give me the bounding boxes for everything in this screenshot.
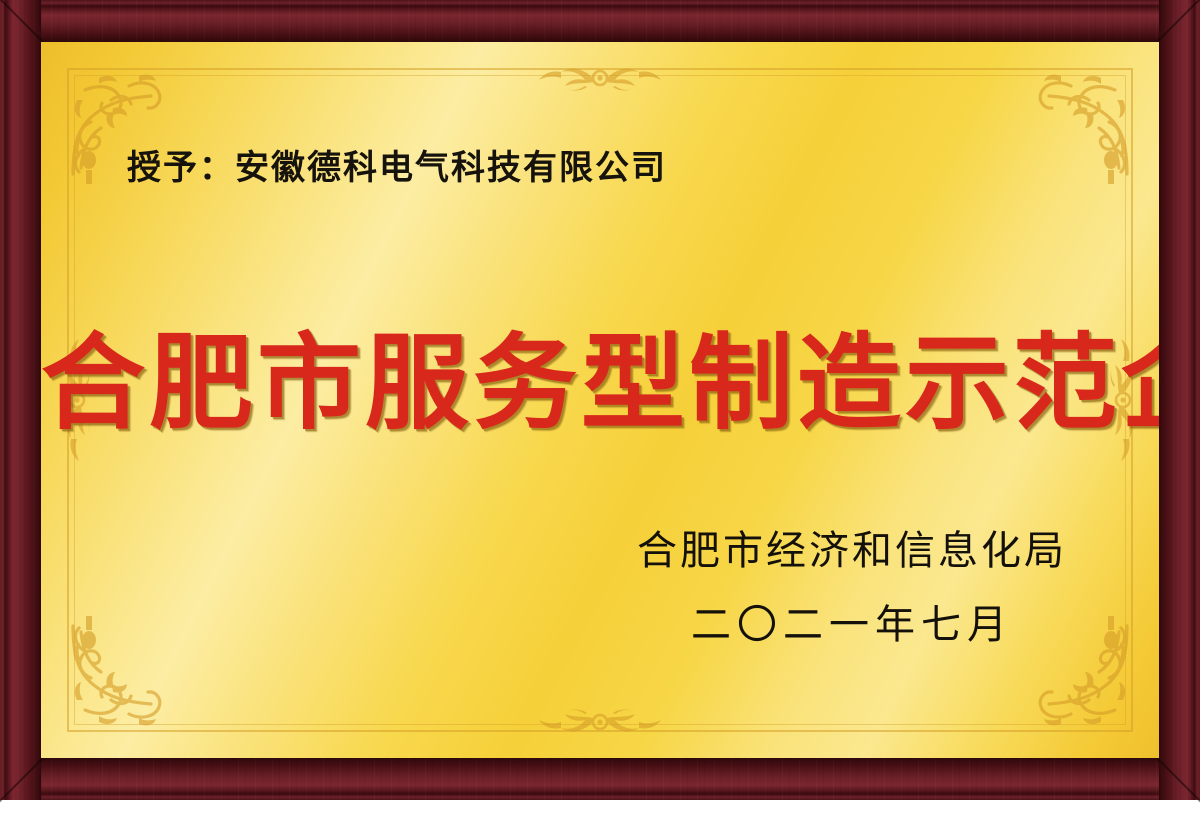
issue-date: 二〇二一年七月	[637, 592, 1067, 650]
issuer-block: 合肥市经济和信息化局 二〇二一年七月	[637, 518, 1067, 650]
gold-plate: 授予：安徽德科电气科技有限公司 合肥市服务型制造示范企业 合肥市经济和信息化局 …	[41, 42, 1159, 758]
issuing-authority: 合肥市经济和信息化局	[637, 518, 1067, 576]
recipient-line: 授予：安徽德科电气科技有限公司	[127, 140, 667, 189]
plaque-content: 授予：安徽德科电气科技有限公司 合肥市服务型制造示范企业 合肥市经济和信息化局 …	[41, 42, 1159, 758]
award-plaque: 授予：安徽德科电气科技有限公司 合肥市服务型制造示范企业 合肥市经济和信息化局 …	[0, 0, 1200, 800]
award-title: 合肥市服务型制造示范企业	[41, 330, 1159, 439]
